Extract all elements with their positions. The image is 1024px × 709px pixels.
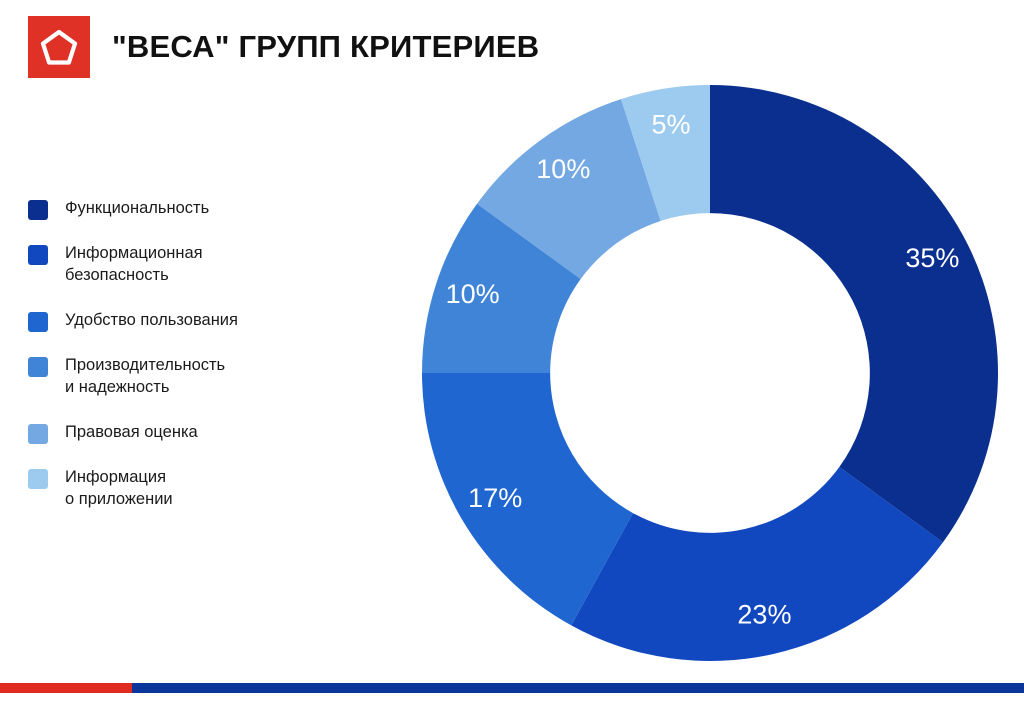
legend-label-3: Производительность и надежность <box>65 355 225 399</box>
donut-slice-label-0: 35% <box>905 243 959 273</box>
legend-item-5: Информация о приложении <box>28 467 358 511</box>
donut-slices <box>422 85 998 661</box>
legend-swatch-icon-4 <box>28 424 48 444</box>
legend-label-4: Правовая оценка <box>65 422 198 444</box>
donut-chart: 35%23%17%10%10%5% <box>421 84 999 662</box>
legend-item-3: Производительность и надежность <box>28 355 358 399</box>
legend-item-4: Правовая оценка <box>28 422 358 444</box>
legend-label-5: Информация о приложении <box>65 467 173 511</box>
donut-slice-label-4: 10% <box>536 154 590 184</box>
legend-label-1: Информационная безопасность <box>65 243 203 287</box>
donut-slice-label-2: 17% <box>468 483 522 513</box>
legend-item-0: Функциональность <box>28 198 358 220</box>
header: "ВЕСА" ГРУПП КРИТЕРИЕВ <box>28 16 539 78</box>
donut-slice-label-3: 10% <box>446 279 500 309</box>
page-title: "ВЕСА" ГРУПП КРИТЕРИЕВ <box>112 29 539 65</box>
legend-swatch-icon-1 <box>28 245 48 265</box>
legend-swatch-icon-0 <box>28 200 48 220</box>
legend-label-2: Удобство пользования <box>65 310 238 332</box>
donut-chart-svg: 35%23%17%10%10%5% <box>421 84 999 662</box>
donut-slice-label-1: 23% <box>737 600 791 630</box>
donut-slice-label-5: 5% <box>651 110 690 140</box>
legend-item-1: Информационная безопасность <box>28 243 358 287</box>
footer-accent-bar <box>0 683 1024 693</box>
legend-item-2: Удобство пользования <box>28 310 358 332</box>
donut-slice-0[interactable] <box>710 85 998 542</box>
footer-bar-blue-segment <box>132 683 1024 693</box>
footer-bar-red-segment <box>0 683 132 693</box>
pentagon-logo-icon <box>28 16 90 78</box>
legend-swatch-icon-5 <box>28 469 48 489</box>
legend-swatch-icon-3 <box>28 357 48 377</box>
chart-legend: Функциональность Информационная безопасн… <box>28 198 358 534</box>
legend-label-0: Функциональность <box>65 198 209 220</box>
legend-swatch-icon-2 <box>28 312 48 332</box>
